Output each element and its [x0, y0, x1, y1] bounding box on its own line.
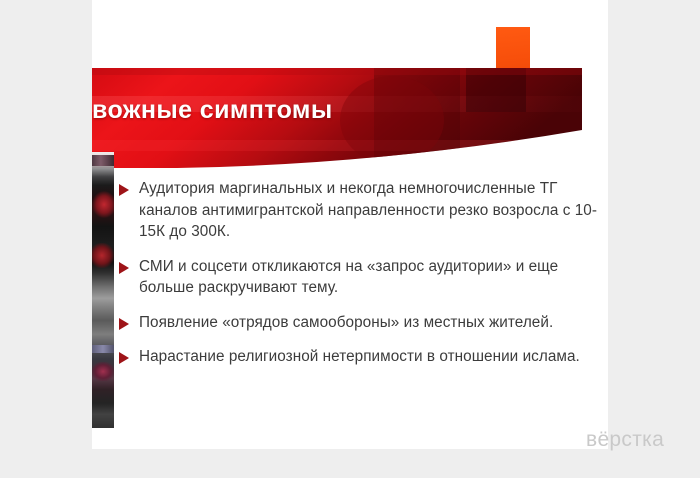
left-photo-strip [92, 152, 114, 428]
list-item: Нарастание религиозной нетерпимости в от… [119, 346, 597, 368]
watermark: вёрстка [586, 428, 664, 452]
screenshot-root: вожные симптомы Аудитория маргинальных и… [0, 0, 700, 478]
triangle-right-icon [119, 352, 129, 364]
photo-strip-accent-blue [92, 345, 114, 353]
page-title: вожные симптомы [92, 93, 512, 127]
list-item-text: Нарастание религиозной нетерпимости в от… [139, 346, 597, 368]
bullet-list: Аудитория маргинальных и некогда немного… [119, 178, 597, 381]
list-item: Появление «отрядов самообороны» из местн… [119, 312, 597, 334]
list-item-text: Появление «отрядов самообороны» из местн… [139, 312, 597, 334]
list-item-text: СМИ и соцсети откликаются на «запрос ауд… [139, 256, 597, 299]
triangle-right-icon [119, 184, 129, 196]
presentation-slide: вожные симптомы Аудитория маргинальных и… [92, 0, 608, 449]
list-item-text: Аудитория маргинальных и некогда немного… [139, 178, 597, 243]
triangle-right-icon [119, 262, 129, 274]
photo-strip-accent-top [92, 155, 114, 166]
photo-strip-accent-magenta [92, 362, 114, 381]
list-item: СМИ и соцсети откликаются на «запрос ауд… [119, 256, 597, 299]
triangle-right-icon [119, 318, 129, 330]
list-item: Аудитория маргинальных и некогда немного… [119, 178, 597, 243]
